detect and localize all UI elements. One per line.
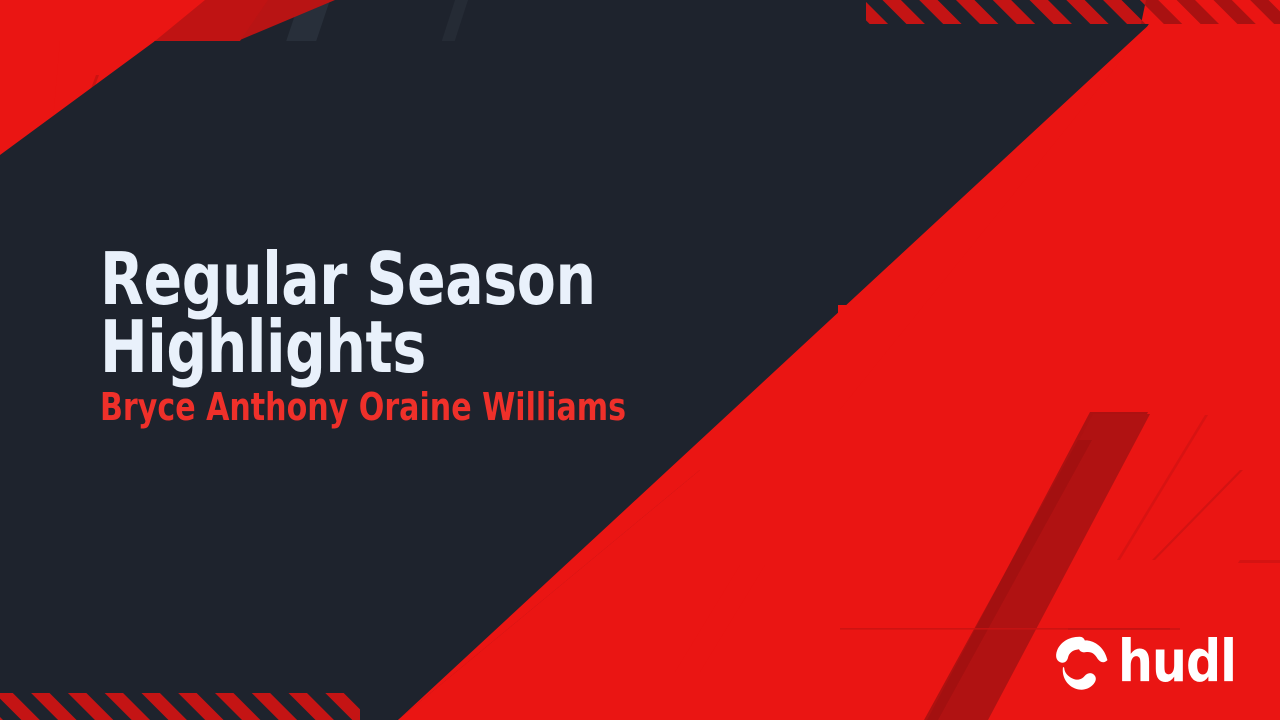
page-title-line-1: Regular Season (100, 246, 663, 314)
page-title-line-2: Highlights (100, 314, 663, 382)
hudl-logo: hudl (1052, 634, 1244, 692)
hudl-swirl-icon (1052, 635, 1110, 691)
hudl-wordmark: hudl (1118, 632, 1236, 690)
athlete-name-subtitle: Bryce Anthony Oraine Williams (100, 388, 663, 426)
bottom-right-corner-accent (1238, 560, 1280, 563)
highlight-title-card: Regular Season Highlights Bryce Anthony … (0, 0, 1280, 720)
title-block: Regular Season Highlights Bryce Anthony … (100, 246, 740, 426)
